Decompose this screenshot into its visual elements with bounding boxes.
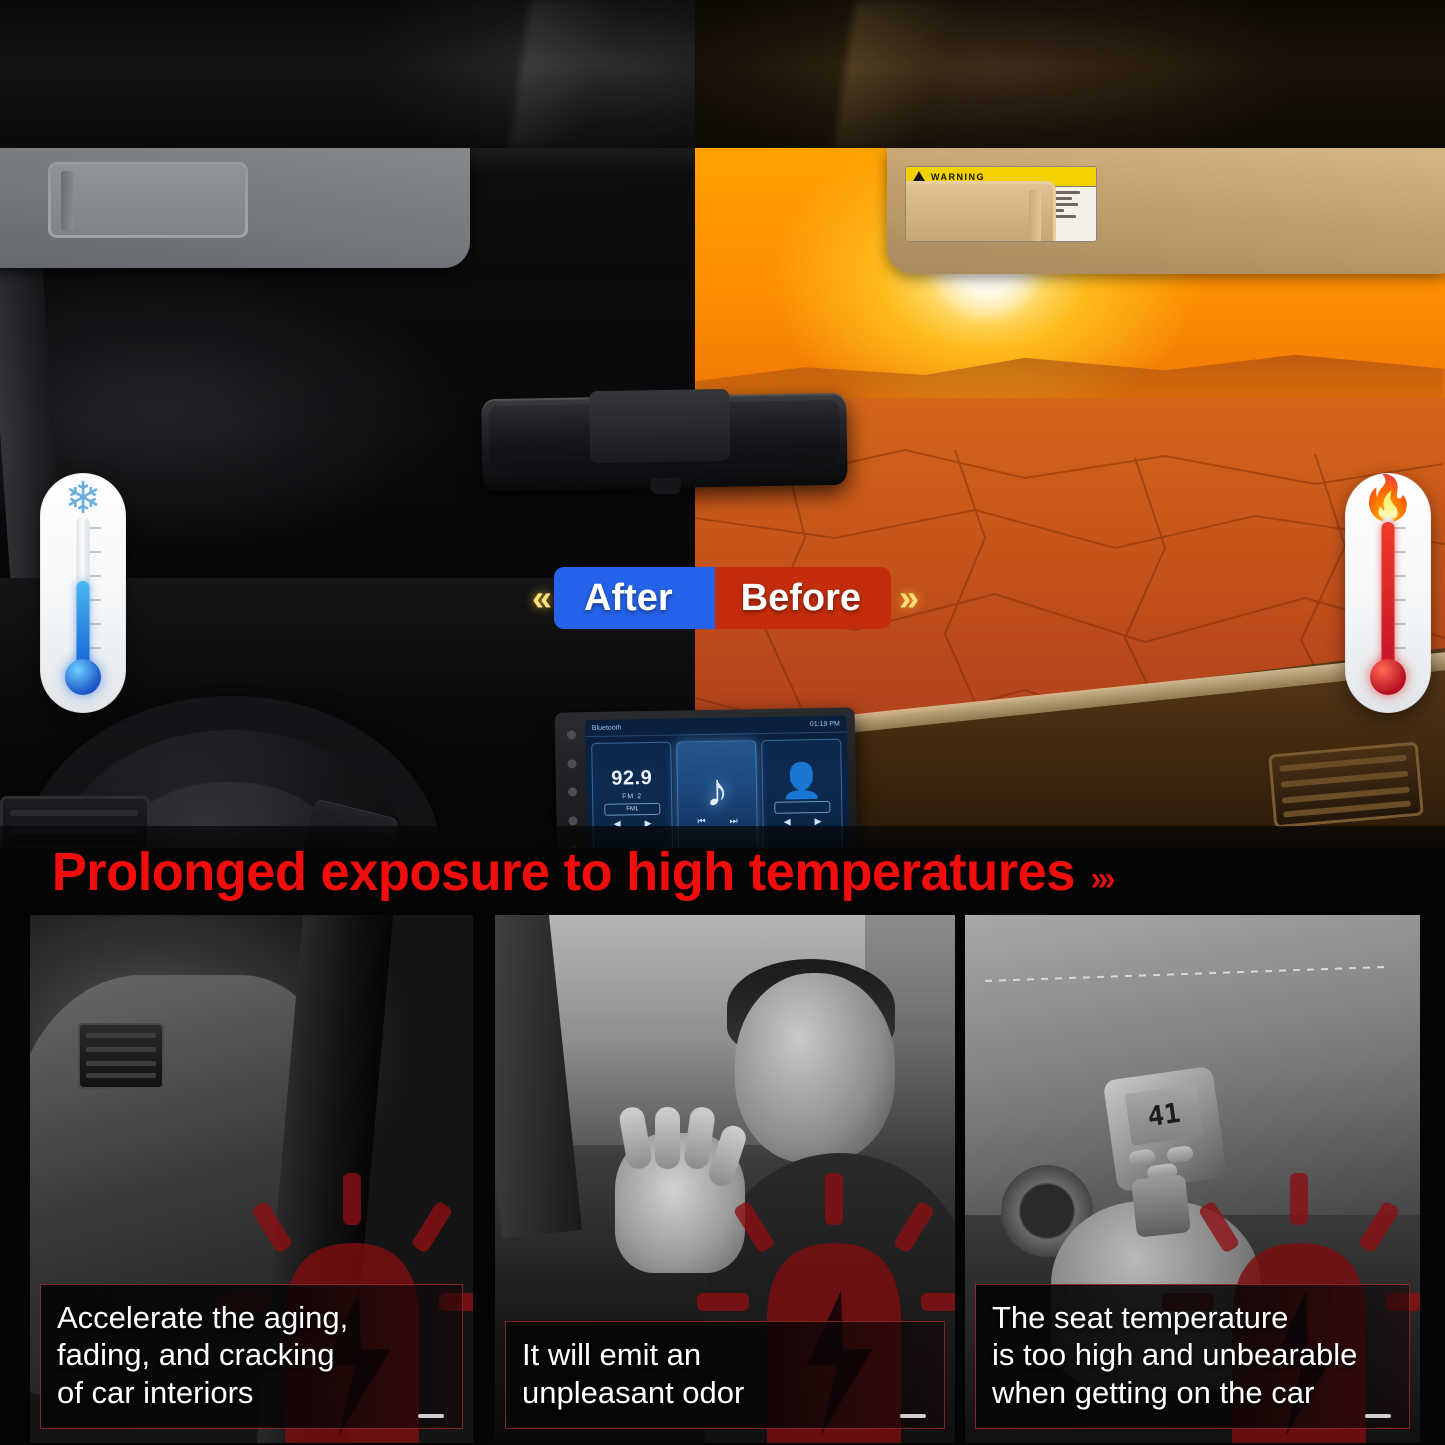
subheadline-band: Prolonged exposure to high temperatures … xyxy=(0,826,1445,918)
subheadline-text: Prolonged exposure to high temperatures xyxy=(52,845,1075,899)
sun-visor-right: WARNING xyxy=(887,148,1445,274)
caption-line: when getting on the car xyxy=(992,1374,1393,1412)
caption-line: The seat temperature xyxy=(992,1299,1393,1337)
hu-button-power[interactable] xyxy=(566,730,575,739)
hu-button-menu[interactable] xyxy=(567,759,576,768)
hu-source-label: Bluetooth xyxy=(592,724,622,732)
hu-button-volume[interactable] xyxy=(567,788,576,797)
caption-underscore xyxy=(1365,1414,1391,1418)
sun-visor-left xyxy=(0,148,470,268)
caption-line: unpleasant odor xyxy=(522,1374,928,1412)
ir-gun-grip xyxy=(1131,1174,1191,1237)
caption-line: is too high and unbearable xyxy=(992,1336,1393,1374)
caption-underscore xyxy=(900,1414,926,1418)
infrared-thermometer: 41 xyxy=(1110,1073,1225,1233)
air-vent-right xyxy=(1268,742,1424,829)
panel-unpleasant-odor: It will emit an unpleasant odor xyxy=(495,915,955,1443)
hu-band: FM 2 xyxy=(622,793,642,800)
hu-skip-fwd-icon[interactable]: ⏭ xyxy=(729,815,737,826)
before-after-toggle[interactable]: « After Before » xyxy=(0,563,1445,633)
before-badge[interactable]: Before xyxy=(715,567,891,629)
infographic-stage: WHY – USE A SUNSHADE ? xyxy=(0,0,1445,1445)
caption-line: It will emit an xyxy=(522,1336,928,1374)
after-badge[interactable]: After xyxy=(554,567,715,629)
panel-aging-interior: Accelerate the aging, fading, and cracki… xyxy=(30,915,473,1443)
mirror-housing xyxy=(589,389,730,463)
caption-line: Accelerate the aging, xyxy=(57,1299,446,1337)
warning-label-title: WARNING xyxy=(931,172,985,182)
hu-preset[interactable]: FM1 xyxy=(604,803,660,816)
chevrons-right-icon: ››› xyxy=(1090,862,1111,896)
person-icon: 👤 xyxy=(780,763,823,798)
head xyxy=(735,973,895,1163)
hero-split-scene: WARNING xyxy=(0,148,1445,848)
rearview-mirror xyxy=(481,393,848,491)
panel-caption: It will emit an unpleasant odor xyxy=(505,1321,945,1429)
dash-vent xyxy=(78,1023,164,1089)
ir-gun-reading: 41 xyxy=(1125,1084,1204,1146)
hu-profile-next-icon[interactable]: ▶ xyxy=(814,815,821,826)
hu-frequency: 92.9 xyxy=(611,767,652,791)
hu-button-home[interactable] xyxy=(568,817,577,826)
title-banner xyxy=(0,0,1445,148)
hu-profile-pill[interactable] xyxy=(774,800,830,813)
subheadline: Prolonged exposure to high temperatures … xyxy=(17,845,1112,899)
thermo-cold-bulb xyxy=(65,659,101,695)
visor-mirror-cover xyxy=(48,162,248,238)
waving-hand xyxy=(615,1133,745,1273)
panel-caption: The seat temperature is too high and unb… xyxy=(975,1284,1410,1429)
flame-icon: 🔥 xyxy=(1361,477,1416,521)
caption-line: of car interiors xyxy=(57,1374,446,1412)
airbag-warning-label: WARNING xyxy=(905,166,1097,242)
caption-underscore xyxy=(418,1414,444,1418)
panel-caption: Accelerate the aging, fading, and cracki… xyxy=(40,1284,463,1429)
thermo-hot-bulb xyxy=(1370,659,1406,695)
music-note-icon: ♪ xyxy=(705,767,729,813)
chevron-left-icon: « xyxy=(524,580,554,616)
hu-clock: 01:19 PM xyxy=(810,720,840,728)
caption-line: fading, and cracking xyxy=(57,1336,446,1374)
chevron-right-icon: » xyxy=(891,580,921,616)
mirror-stem xyxy=(651,478,681,495)
benefit-panels: Accelerate the aging, fading, and cracki… xyxy=(0,915,1445,1445)
title-scrim xyxy=(0,0,1445,148)
snowflake-icon: ❄ xyxy=(65,477,102,521)
panel-hot-seat: 41 The seat temperature i xyxy=(965,915,1420,1443)
